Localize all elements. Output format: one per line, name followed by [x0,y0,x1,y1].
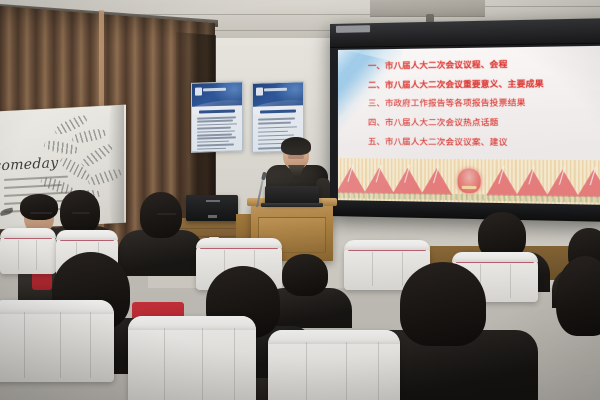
screen-housing [330,18,600,48]
mural-word: someday [0,155,59,174]
slide-item-text: 市八届人大二次会议热点话题 [385,117,499,127]
slide-item-marker: 三、 [368,98,385,108]
eyeglasses-icon [30,212,52,214]
national-emblem-icon [458,168,481,193]
poster-text-row [197,130,235,133]
poster-swoosh [252,97,304,118]
poster-text-row [258,126,297,129]
eyeglasses-icon [157,213,176,215]
chair[interactable] [268,330,400,400]
poster-swoosh [191,97,243,118]
slide-item-text: 市政府工作报告等各项报告投票结果 [385,97,526,108]
speaker-hair [281,137,311,155]
mural-tree-trunk [108,105,124,228]
chair[interactable] [0,300,114,382]
slide-item-marker: 五、 [368,136,385,146]
chair-cover-skirt [452,252,538,262]
poster-logo-icon [195,87,202,95]
slide-agenda-list: 一、市八届人大二次会议议程、会程 二、市八届人大二次会议重要意义、主要成果 三、… [368,59,600,158]
chair-fold [510,264,511,298]
attendee-hair [20,194,58,220]
chair-fold [164,328,165,400]
slide-item-text: 市八届人大二次会议议案、建议 [385,136,508,147]
poster-text-row [197,134,232,137]
chair-cover-skirt [344,240,430,250]
poster-text-row [258,122,291,125]
slide-canvas: 一、市八届人大二次会议议程、会程 二、市八届人大二次会议重要意义、主要成果 三、… [338,46,600,205]
chair-cover-skirt [0,228,56,238]
slide-agenda-item: 三、市政府工作报告等各项报告投票结果 [368,98,600,107]
slide-item-marker: 四、 [368,117,385,127]
poster-text-row [197,120,233,123]
screen-bracket [336,25,370,33]
chair[interactable] [128,316,256,400]
chair-cover-skirt [128,316,256,330]
monitor-power-button[interactable] [208,215,217,218]
slide-agenda-item: 二、市八届人大二次会议重要意义、主要成果 [368,78,600,88]
poster-text-row [258,118,295,121]
chair-fold [372,252,373,286]
ceiling-seam [470,6,600,7]
chair-fold [306,342,307,400]
slide-item-marker: 一、 [368,60,385,70]
conference-room-photo: someday [0,0,600,400]
chair-fold [234,328,235,400]
chair-fold [202,328,203,400]
chair-fold [402,252,403,286]
poster-header-text [203,87,226,91]
poster-header-band [253,82,303,107]
wall-poster-left [191,81,243,153]
chair-cover-skirt [268,330,400,344]
chair-cover-skirt [196,238,282,248]
chair-cover-skirt [0,300,114,314]
slide-flag-icon [577,170,600,198]
poster-logo-icon [256,87,263,95]
attendee-head [400,262,486,346]
slide-item-marker: 二、 [368,79,385,89]
slide-agenda-item: 一、市八届人大二次会议议程、会程 [368,59,600,70]
chair-fold [90,312,91,378]
projection-screen: 一、市八届人大二次会议议程、会程 二、市八届人大二次会议重要意义、主要成果 三、… [330,18,600,222]
poster-text-row [258,130,288,133]
slide-agenda-item: 四、市八届人大二次会议热点话题 [368,118,600,127]
poster-header-band [192,82,242,107]
mural-leaf-icon [71,127,106,144]
poster-text-row [197,127,231,130]
eyeglasses-icon [72,212,90,214]
attendee-head [140,192,182,238]
mural-bird-icon [0,207,13,216]
chair-cover-skirt [56,230,118,240]
chair-fold [378,342,379,400]
poster-text-row [258,134,294,137]
attendee-head [282,254,328,296]
poster-text-row [197,147,226,150]
poster-text-row [197,123,237,126]
laptop-base [261,203,323,207]
chair[interactable] [0,228,56,274]
slide-agenda-item: 五、市八届人大二次会议议案、建议 [368,137,600,147]
slide-item-text: 市八届人大二次会议议程、会程 [385,59,508,71]
chair-fold [60,312,61,378]
speaker-face-shadow [288,155,304,159]
chair-fold [18,240,19,270]
chair-fold [24,312,25,378]
poster-text-row [197,144,234,147]
chair-fold [346,342,347,400]
poster-header-text [264,87,287,91]
poster-text-row [197,116,236,119]
chair-fold [36,240,37,270]
slide-decorative-band [338,158,600,205]
poster-text-row [197,137,237,140]
monitor-brand-badge [206,200,220,202]
slide-item-text: 市八届人大二次会议重要意义、主要成果 [385,78,544,90]
poster-text-row [197,140,229,143]
podium-laptop[interactable] [265,186,319,204]
desk-monitor [186,195,238,221]
